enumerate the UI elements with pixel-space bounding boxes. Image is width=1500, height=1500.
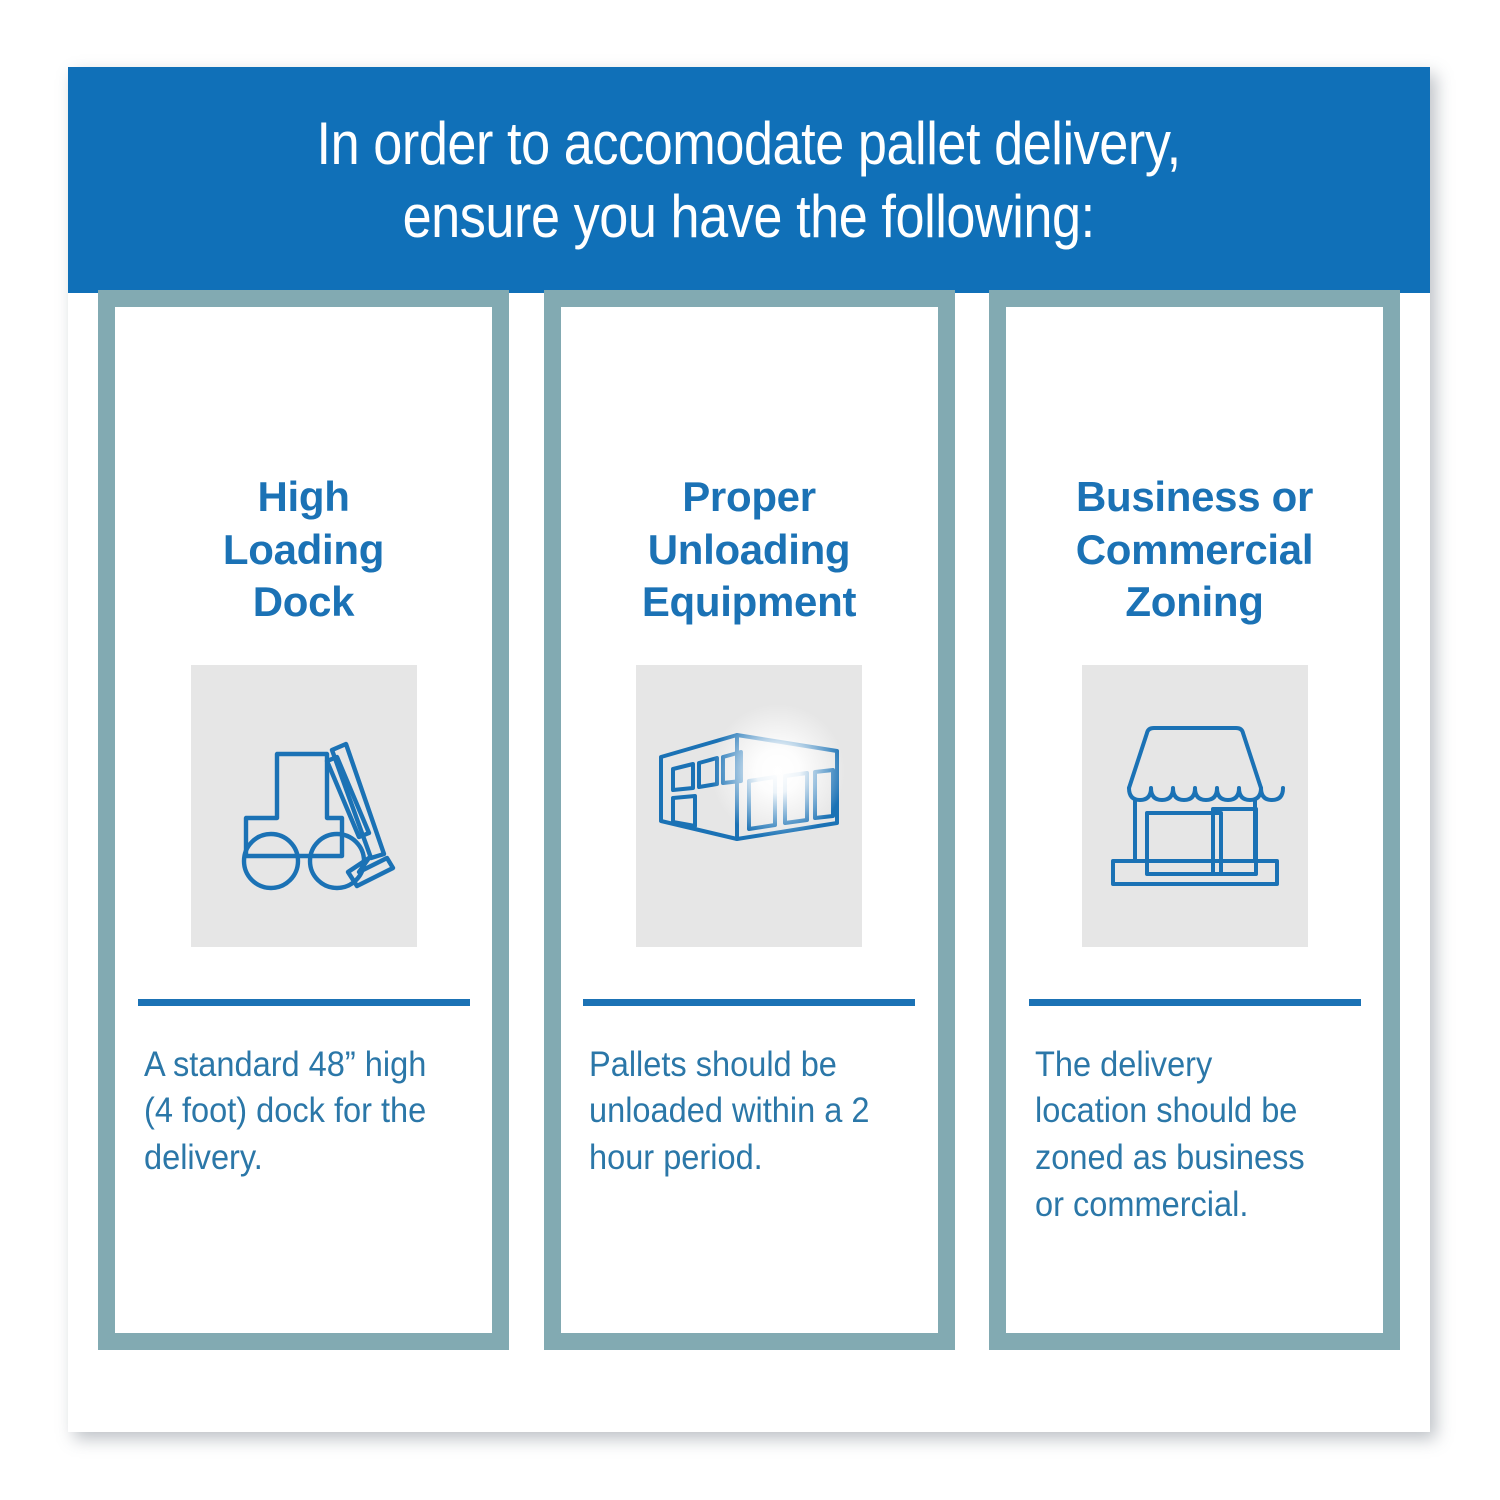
storefront-icon [1099,721,1291,891]
card-divider-zoning [1029,999,1361,1006]
requirement-card-unloading-equipment: Proper Unloading Equipment [544,290,955,1350]
pallet-delivery-infographic: In order to accomodate pallet delivery, … [68,67,1430,1432]
card-title-unloading-equipment: Proper Unloading Equipment [642,471,856,629]
card-title-loading-dock: High Loading Dock [223,471,384,629]
requirement-card-zoning: Business or Commercial Zoning [989,290,1400,1350]
card-body-loading-dock: A standard 48” high (4 foot) dock for th… [144,1042,442,1183]
card-body-zoning: The delivery location should be zoned as… [1035,1042,1333,1230]
icon-tile-zoning [1082,665,1308,947]
icon-tile-unloading-equipment [636,665,862,947]
forklift-icon [209,706,399,906]
card-body-unloading-equipment: Pallets should be unloaded within a 2 ho… [589,1042,887,1183]
card-title-zoning: Business or Commercial Zoning [1076,471,1313,629]
requirement-card-loading-dock: High Loading Dock [98,290,509,1350]
header-banner: In order to accomodate pallet delivery, … [68,67,1430,293]
card-divider-loading-dock [138,999,470,1006]
icon-tile-loading-dock [191,665,417,947]
requirement-cards: High Loading Dock [98,290,1400,1350]
warehouse-building-icon [649,731,849,881]
card-divider-unloading-equipment [583,999,915,1006]
page-title: In order to accomodate pallet delivery, … [317,107,1181,253]
